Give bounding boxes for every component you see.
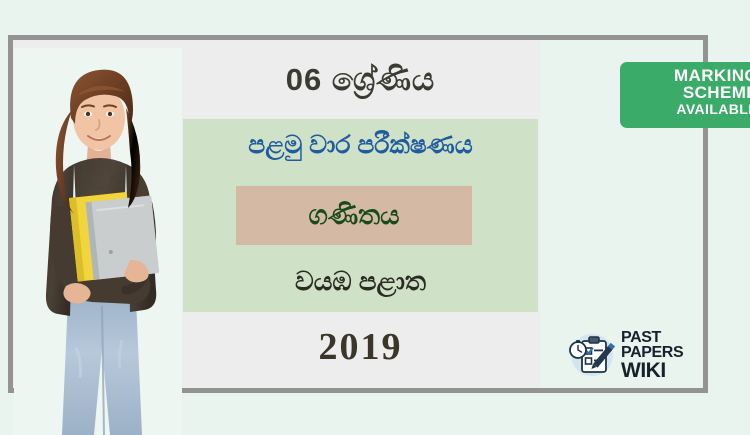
- logo-line-2: WIKI: [621, 361, 706, 381]
- province-label: වයඹ පළාත: [183, 266, 538, 298]
- grade-label: 06 ශ්‍රේණිය: [183, 62, 538, 99]
- student-photo: [14, 48, 182, 435]
- exam-paper-cover-banner: 06 ශ්‍රේණිය පළමු වාර පරීක්ෂණය ගණිතය වයඹ …: [0, 0, 750, 435]
- term-exam-label: පළමු වාර පරීක්ෂණය: [183, 131, 538, 160]
- clipboard-stopwatch-pen-icon: [566, 329, 618, 384]
- marking-scheme-badge: MARKING SCHEME AVAILABLE: [620, 62, 750, 128]
- badge-line-1: MARKING: [634, 67, 750, 84]
- badge-line-3: AVAILABLE: [634, 102, 750, 116]
- badge-line-2: SCHEME: [634, 84, 750, 101]
- logo-wordmark: PAST PAPERS WIKI: [621, 331, 706, 380]
- logo-line-1: PAST PAPERS: [621, 331, 706, 361]
- year-label: 2019: [183, 325, 538, 369]
- past-papers-wiki-logo: PAST PAPERS WIKI: [566, 328, 706, 384]
- subject-label: ගණිතය: [309, 200, 400, 232]
- subject-box: ගණිතය: [236, 186, 472, 245]
